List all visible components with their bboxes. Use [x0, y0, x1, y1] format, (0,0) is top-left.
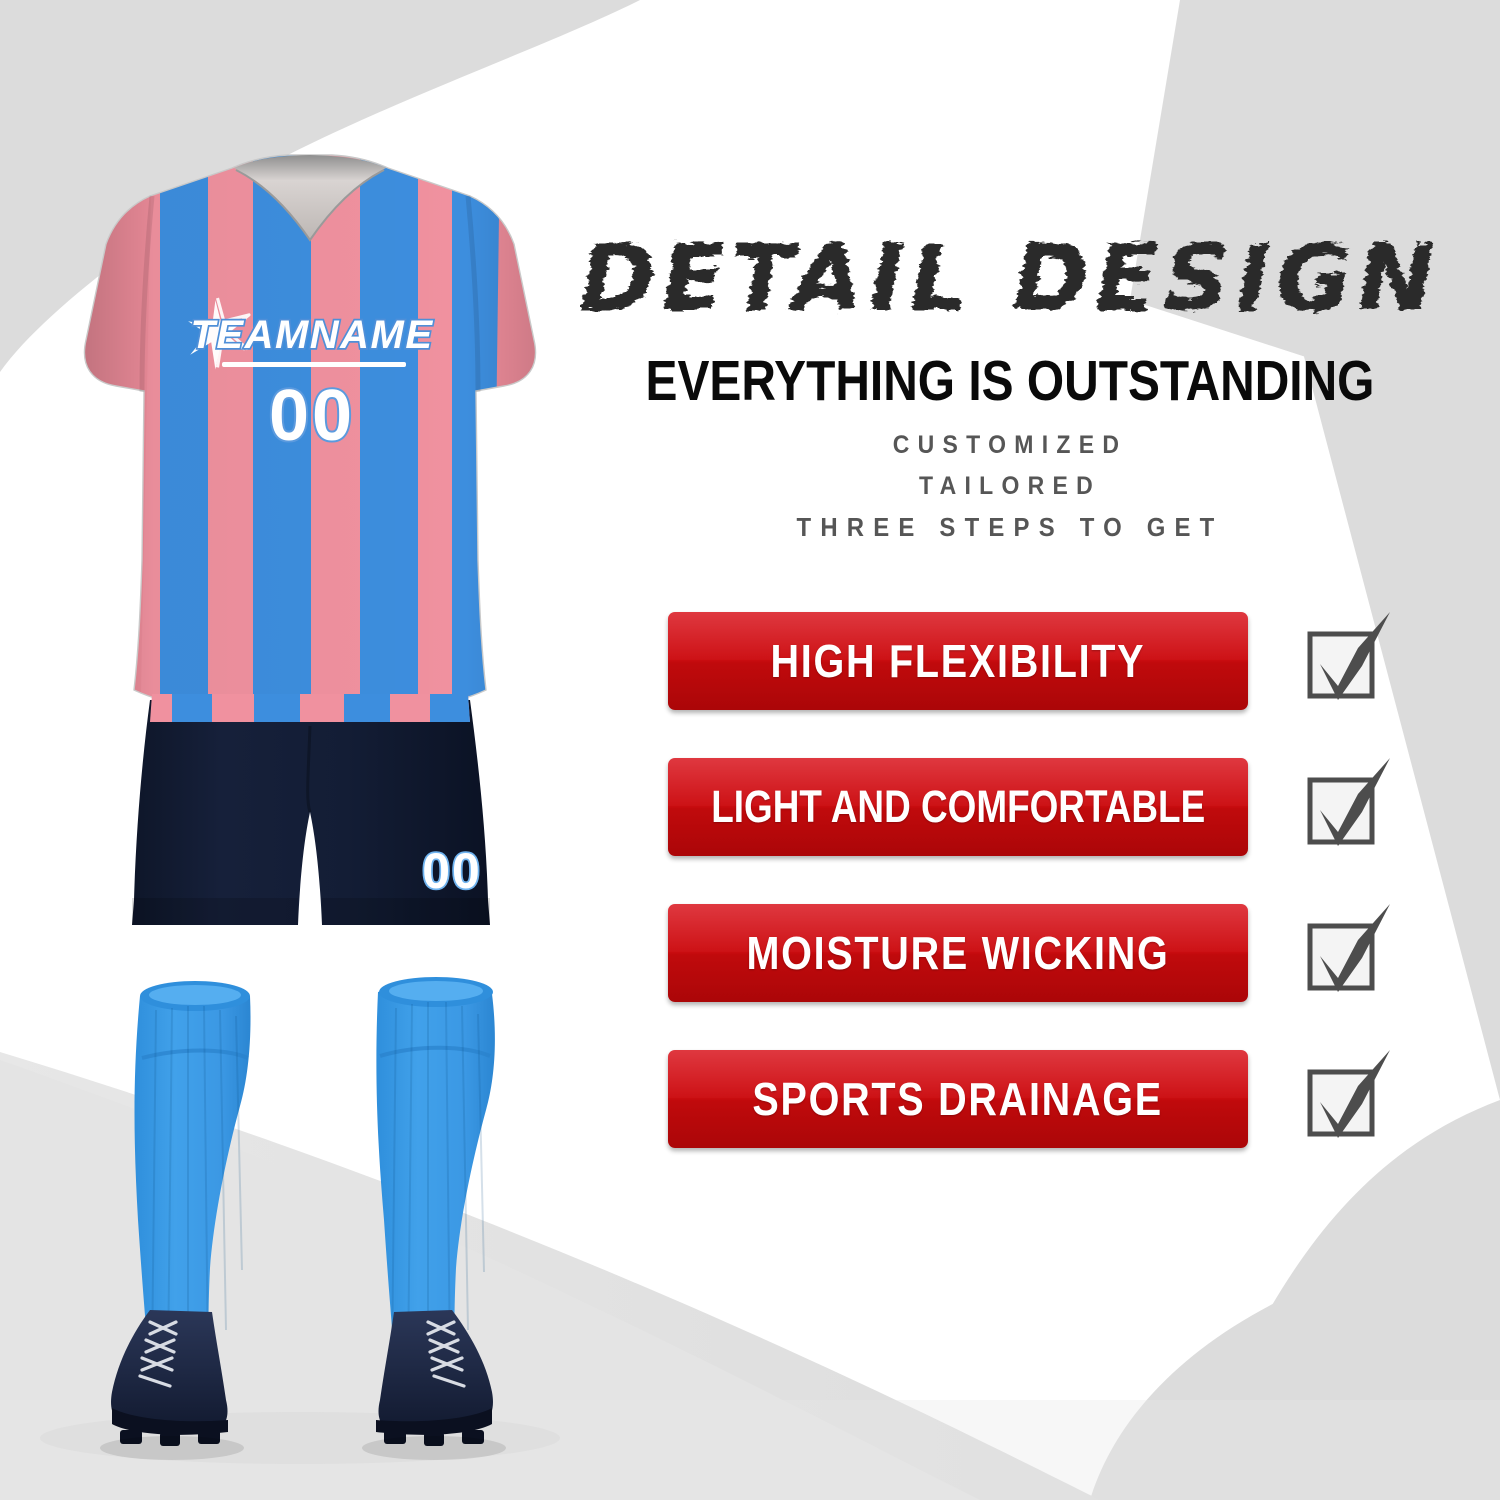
- checkmark-icon: [1286, 896, 1398, 1008]
- jersey-underline: [222, 362, 406, 367]
- feature-label: LIGHT AND COMFORTABLE: [711, 781, 1205, 833]
- detail-design-title: DETAIL DESIGN: [580, 222, 1440, 342]
- feature-badge-sports-drainage[interactable]: SPORTS DRAINAGE: [668, 1050, 1248, 1148]
- shorts-waistband: [140, 690, 480, 726]
- checkmark-icon: [1286, 604, 1398, 716]
- tagline-block: CUSTOMIZED TAILORED THREE STEPS TO GET: [560, 425, 1460, 548]
- feature-row: LIGHT AND COMFORTABLE: [668, 758, 1498, 904]
- headline-subtitle: EVERYTHING IS OUTSTANDING: [632, 352, 1388, 410]
- headline-text: DETAIL DESIGN: [580, 225, 1440, 332]
- jersey-team-name: TEAMNAME: [190, 313, 433, 357]
- info-panel: DETAIL DESIGN EVERYTHING IS OUTSTANDING …: [560, 0, 1500, 1500]
- checkmark-icon: [1286, 1042, 1398, 1154]
- shorts-number: 00: [422, 843, 482, 899]
- feature-badge-high-flexibility[interactable]: HIGH FLEXIBILITY: [668, 612, 1248, 710]
- tagline-3: THREE STEPS TO GET: [596, 506, 1424, 548]
- feature-label: SPORTS DRAINAGE: [753, 1072, 1163, 1126]
- checkmark-icon: [1286, 750, 1398, 862]
- feature-badge-light-and-comfortable[interactable]: LIGHT AND COMFORTABLE: [668, 758, 1248, 856]
- headline-block: DETAIL DESIGN: [560, 222, 1460, 342]
- tagline-1: CUSTOMIZED: [596, 425, 1424, 466]
- feature-label: MOISTURE WICKING: [746, 926, 1169, 980]
- product-showcase: TEAMNAME 00 00: [0, 0, 620, 1500]
- feature-row: SPORTS DRAINAGE: [668, 1050, 1498, 1196]
- feature-row: MOISTURE WICKING: [668, 904, 1498, 1050]
- feature-row: HIGH FLEXIBILITY: [668, 612, 1498, 758]
- uniform-illustration: TEAMNAME 00 00: [0, 0, 620, 1500]
- feature-list: HIGH FLEXIBILITY LIGHT AND COMFORTABLE M…: [668, 612, 1498, 1196]
- cleat-right: [376, 1310, 493, 1446]
- tagline-2: TAILORED: [596, 466, 1424, 507]
- jersey-number: 00: [269, 376, 355, 456]
- feature-badge-moisture-wicking[interactable]: MOISTURE WICKING: [668, 904, 1248, 1002]
- feature-label: HIGH FLEXIBILITY: [771, 634, 1146, 688]
- cleat-left: [111, 1310, 228, 1446]
